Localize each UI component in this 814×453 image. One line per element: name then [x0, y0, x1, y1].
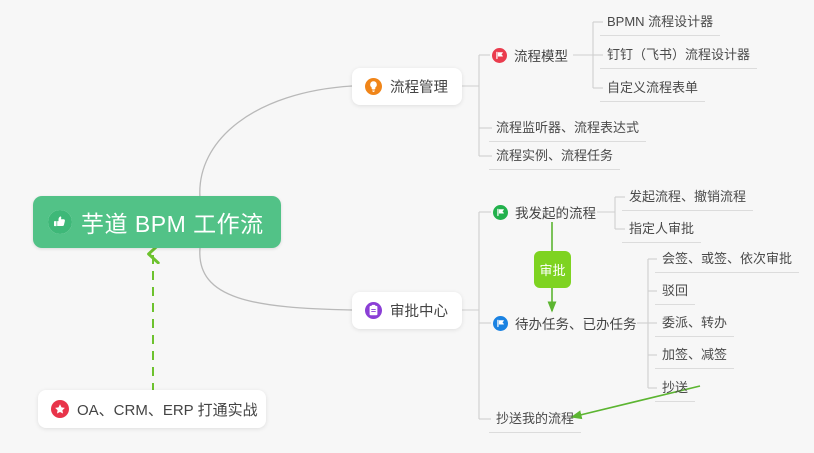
- flag-icon: [493, 316, 508, 331]
- leaf-start-cancel-process[interactable]: 发起流程、撤销流程: [622, 186, 753, 211]
- lightbulb-icon: [365, 78, 382, 95]
- leaf-countersign[interactable]: 会签、或签、依次审批: [655, 248, 799, 273]
- annotation-tag-approval: 审批: [534, 251, 571, 288]
- leaf-reject[interactable]: 驳回: [655, 280, 695, 305]
- node-my-started-process[interactable]: 我发起的流程: [493, 199, 596, 225]
- star-icon: [51, 400, 69, 418]
- flag-icon: [493, 205, 508, 220]
- leaf-process-listener[interactable]: 流程监听器、流程表达式: [489, 117, 646, 142]
- leaf-dingtalk-designer[interactable]: 钉钉（飞书）流程设计器: [600, 44, 757, 69]
- leaf-carbon-copy[interactable]: 抄送: [655, 377, 695, 402]
- leaf-bpmn-designer[interactable]: BPMN 流程设计器: [600, 11, 720, 36]
- leaf-process-instance[interactable]: 流程实例、流程任务: [489, 145, 620, 170]
- node-process-management-label: 流程管理: [390, 76, 448, 97]
- leaf-add-remove-sign[interactable]: 加签、减签: [655, 344, 734, 369]
- node-process-management[interactable]: 流程管理: [352, 68, 462, 105]
- mindmap-canvas: 芋道 BPM 工作流 流程管理 审批中心: [0, 0, 814, 453]
- node-process-model-label: 流程模型: [514, 45, 568, 65]
- node-process-model[interactable]: 流程模型: [492, 42, 568, 68]
- leaf-custom-form[interactable]: 自定义流程表单: [600, 77, 705, 102]
- node-integration-practice-label: OA、CRM、ERP 打通实战: [77, 399, 258, 420]
- thumbs-up-icon: [48, 210, 72, 234]
- node-approval-center-label: 审批中心: [390, 300, 448, 321]
- leaf-cc-to-me[interactable]: 抄送我的流程: [489, 408, 581, 433]
- clipboard-icon: [365, 302, 382, 319]
- node-my-started-process-label: 我发起的流程: [515, 202, 596, 222]
- root-label: 芋道 BPM 工作流: [81, 205, 264, 239]
- node-approval-center[interactable]: 审批中心: [352, 292, 462, 329]
- leaf-assignee-approval[interactable]: 指定人审批: [622, 218, 701, 243]
- edge-root-to-process-management: [200, 86, 352, 198]
- node-integration-practice[interactable]: OA、CRM、ERP 打通实战: [38, 390, 266, 428]
- root-node[interactable]: 芋道 BPM 工作流: [33, 196, 281, 248]
- edge-root-to-approval-center: [200, 248, 352, 310]
- node-todo-done-tasks-label: 待办任务、已办任务: [515, 313, 637, 333]
- node-todo-done-tasks[interactable]: 待办任务、已办任务: [493, 310, 637, 336]
- flag-icon: [492, 48, 507, 63]
- leaf-delegate-transfer[interactable]: 委派、转办: [655, 312, 734, 337]
